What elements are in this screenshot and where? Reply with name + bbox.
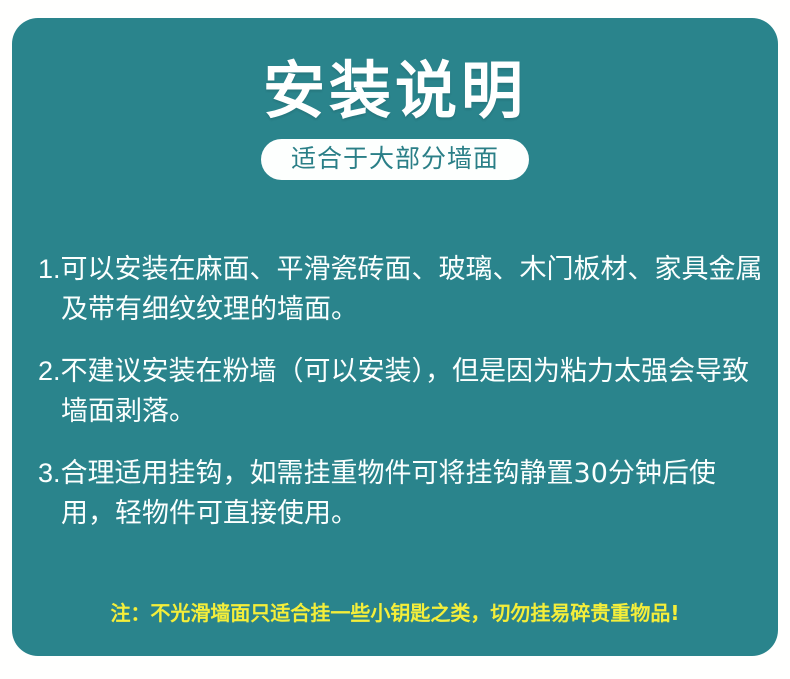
list-item-text: 可以安装在麻面、平滑瓷砖面、玻璃、木门板材、家具金属及带有细纹纹理的墙面。 — [61, 254, 763, 325]
instruction-list: 1.可以安装在麻面、平滑瓷砖面、玻璃、木门板材、家具金属及带有细纹纹理的墙面。 … — [38, 250, 766, 556]
teal-panel: 安装说明 适合于大部分墙面 1.可以安装在麻面、平滑瓷砖面、玻璃、木门板材、家具… — [12, 18, 778, 656]
list-item-text: 不建议安装在粉墙（可以安装），但是因为粘力太强会导致墙面剥落。 — [61, 356, 750, 427]
list-item: 3.合理适用挂钩，如需挂重物件可将挂钩静置30分钟后使用，轻物件可直接使用。 — [38, 454, 766, 534]
warning-note: 注：不光滑墙面只适合挂一些小钥匙之类，切勿挂易碎贵重物品! — [12, 600, 778, 626]
poster-header: 安装说明 适合于大部分墙面 — [12, 18, 778, 180]
subtitle-badge: 适合于大部分墙面 — [261, 139, 529, 180]
subtitle-badge-wrapper: 适合于大部分墙面 — [12, 139, 778, 180]
list-item-number: 2. — [38, 356, 61, 386]
list-item-number: 1. — [38, 254, 61, 284]
list-item-number: 3. — [38, 458, 61, 488]
list-item: 2.不建议安装在粉墙（可以安装），但是因为粘力太强会导致墙面剥落。 — [38, 352, 766, 432]
list-item: 1.可以安装在麻面、平滑瓷砖面、玻璃、木门板材、家具金属及带有细纹纹理的墙面。 — [38, 250, 766, 330]
list-item-text: 合理适用挂钩，如需挂重物件可将挂钩静置30分钟后使用，轻物件可直接使用。 — [61, 458, 716, 529]
page-title: 安装说明 — [12, 18, 778, 125]
installation-instructions-poster: 安装说明 适合于大部分墙面 1.可以安装在麻面、平滑瓷砖面、玻璃、木门板材、家具… — [0, 0, 790, 679]
